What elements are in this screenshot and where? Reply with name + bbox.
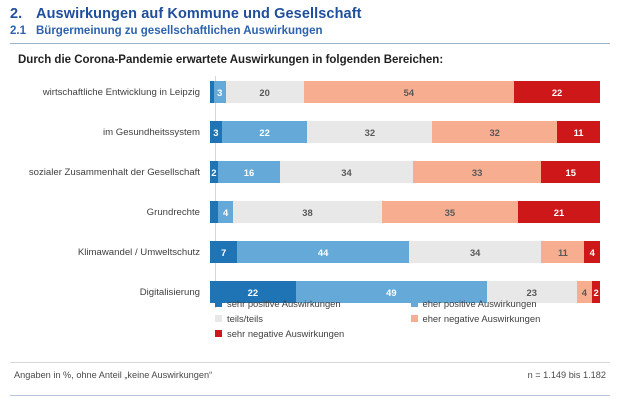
bar-segment: 35: [382, 201, 519, 223]
chart-legend: sehr positive Auswirkungenteils/teilsseh…: [215, 296, 606, 341]
legend-label: sehr negative Auswirkungen: [227, 328, 344, 339]
bar-segment-value: 15: [566, 167, 576, 178]
bar-segment: 38: [233, 201, 381, 223]
bar-category-label: Klimawandel / Umweltschutz: [10, 247, 210, 258]
legend-label: eher negative Auswirkungen: [423, 313, 541, 324]
bar-segment-value: 20: [259, 87, 269, 98]
subsection-heading: 2.1 Bürgermeinung zu gesellschaftlichen …: [10, 25, 608, 37]
legend-item[interactable]: eher negative Auswirkungen: [411, 311, 607, 326]
bar-segment-value: 11: [574, 127, 584, 138]
chart-card: Durch die Corona-Pandemie erwartete Ausw…: [10, 44, 610, 402]
subsection-title: Bürgermeinung zu gesellschaftlichen Ausw…: [36, 25, 322, 37]
bar-segment: 32: [307, 121, 432, 143]
legend-item[interactable]: teils/teils: [215, 311, 411, 326]
bar-segment: 3: [214, 81, 226, 103]
bar-segment: 3: [210, 121, 222, 143]
bar-segment: 15: [541, 161, 600, 183]
footer-divider: [10, 362, 610, 363]
bar-segment: 11: [541, 241, 584, 263]
bar-segment: 22: [514, 81, 600, 103]
bar-segment: 7: [210, 241, 237, 263]
bar-segment-value: 34: [470, 247, 480, 258]
bar-segment: 34: [280, 161, 413, 183]
subsection-number: 2.1: [10, 25, 36, 37]
legend-item[interactable]: sehr negative Auswirkungen: [215, 326, 411, 341]
stacked-bar: 4383521: [210, 201, 600, 223]
chart-plot-area: wirtschaftliche Entwicklung in Leipzig32…: [10, 76, 610, 308]
legend-swatch-icon: [215, 330, 222, 337]
category-axis-line: [215, 76, 216, 308]
bar-segment-value: 7: [221, 247, 226, 258]
legend-label: teils/teils: [227, 313, 263, 324]
chart-bar-row: Grundrechte4383521: [10, 201, 600, 223]
bar-segment-value: 4: [223, 207, 228, 218]
legend-item[interactable]: eher positive Auswirkungen: [411, 296, 607, 311]
legend-swatch-icon: [411, 300, 418, 307]
stacked-bar: 74434114: [210, 241, 600, 263]
bar-segment: 20: [226, 81, 304, 103]
page-bottom-rule: [10, 395, 610, 396]
chart-bar-row: im Gesundheitssystem322323211: [10, 121, 600, 143]
stacked-bar: 3205422: [210, 81, 600, 103]
bar-category-label: Grundrechte: [10, 207, 210, 218]
document-header: 2. Auswirkungen auf Kommune und Gesellsc…: [0, 0, 620, 37]
legend-swatch-icon: [411, 315, 418, 322]
bar-segment-value: 3: [213, 127, 218, 138]
chart-bar-row: sozialer Zusammenhalt der Gesellschaft21…: [10, 161, 600, 183]
bar-segment: 34: [409, 241, 542, 263]
footer-note: Angaben in %, ohne Anteil „keine Auswirk…: [14, 370, 212, 380]
legend-label: eher positive Auswirkungen: [423, 298, 537, 309]
bar-segment-value: 11: [558, 247, 568, 258]
section-heading: 2. Auswirkungen auf Kommune und Gesellsc…: [10, 6, 608, 22]
bar-category-label: Digitalisierung: [10, 287, 210, 298]
bar-category-label: sozialer Zusammenhalt der Gesellschaft: [10, 167, 210, 178]
bar-segment: [210, 201, 218, 223]
bar-category-label: im Gesundheitssystem: [10, 127, 210, 138]
bar-segment: 11: [557, 121, 600, 143]
bar-segment: 16: [218, 161, 280, 183]
legend-swatch-icon: [215, 300, 222, 307]
section-number: 2.: [10, 6, 36, 22]
bar-segment-value: 34: [341, 167, 351, 178]
bar-segment-value: 4: [590, 247, 595, 258]
stacked-bar: 216343315: [210, 161, 600, 183]
section-title: Auswirkungen auf Kommune und Gesellschaf…: [36, 6, 362, 22]
footer-sample-size: n = 1.149 bis 1.182: [528, 370, 606, 380]
bar-segment-value: 33: [472, 167, 482, 178]
legend-column-left: sehr positive Auswirkungenteils/teilsseh…: [215, 296, 411, 341]
bar-segment: 21: [518, 201, 600, 223]
stacked-bar: 322323211: [210, 121, 600, 143]
bar-segment: 33: [413, 161, 542, 183]
bar-segment-value: 44: [318, 247, 328, 258]
bar-segment: 44: [237, 241, 409, 263]
legend-item[interactable]: sehr positive Auswirkungen: [215, 296, 411, 311]
bar-segment: 32: [432, 121, 557, 143]
legend-column-right: eher positive Auswirkungeneher negative …: [411, 296, 607, 341]
bar-segment-value: 38: [302, 207, 312, 218]
legend-swatch-icon: [215, 315, 222, 322]
bar-segment-value: 54: [404, 87, 414, 98]
bar-segment-value: 35: [445, 207, 455, 218]
bar-segment-value: 32: [489, 127, 499, 138]
bar-segment: 2: [210, 161, 218, 183]
legend-label: sehr positive Auswirkungen: [227, 298, 341, 309]
bar-segment-value: 22: [552, 87, 562, 98]
bar-segment: 4: [584, 241, 600, 263]
bar-segment: 22: [222, 121, 308, 143]
bar-segment-value: 22: [259, 127, 269, 138]
bar-segment-value: 21: [554, 207, 564, 218]
chart-bar-row: Klimawandel / Umweltschutz74434114: [10, 241, 600, 263]
bar-segment: 4: [218, 201, 234, 223]
bar-segment-value: 2: [211, 167, 216, 178]
bar-category-label: wirtschaftliche Entwicklung in Leipzig: [10, 87, 210, 98]
bar-segment-value: 32: [365, 127, 375, 138]
bar-segment-value: 3: [217, 87, 222, 98]
chart-footer: Angaben in %, ohne Anteil „keine Auswirk…: [14, 370, 606, 380]
chart-bar-row: wirtschaftliche Entwicklung in Leipzig32…: [10, 81, 600, 103]
bar-segment: 54: [304, 81, 515, 103]
chart-title: Durch die Corona-Pandemie erwartete Ausw…: [10, 44, 610, 66]
bar-segment-value: 16: [244, 167, 254, 178]
